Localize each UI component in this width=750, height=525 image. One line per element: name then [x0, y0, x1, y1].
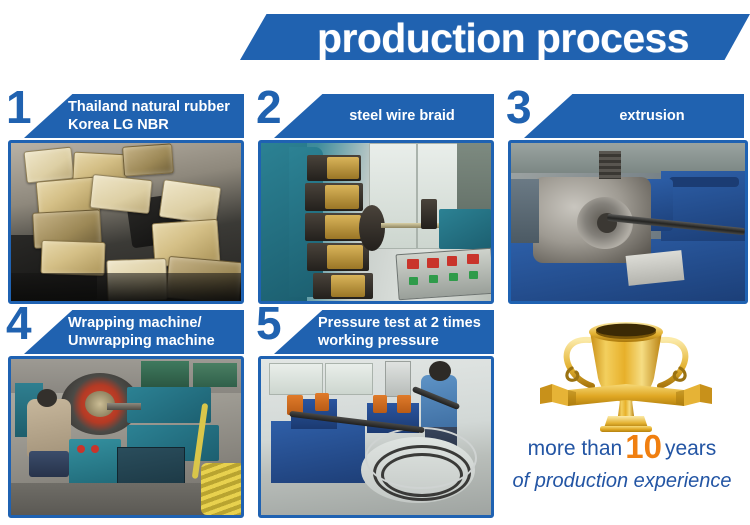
photo-detail	[201, 463, 241, 515]
photo-detail	[37, 389, 57, 407]
photo-detail	[599, 151, 621, 179]
photo-detail	[107, 403, 141, 410]
photo-detail	[325, 215, 361, 239]
photo-detail	[269, 363, 323, 395]
photo-detail	[429, 361, 451, 381]
step-4-label-line-1: Wrapping machine/	[68, 314, 236, 332]
step-2: 2 steel wire braid	[256, 92, 494, 138]
experience-block: more than10years of production experienc…	[496, 432, 748, 496]
step-5-label: Pressure test at 2 times working pressur…	[318, 310, 486, 354]
photo-detail	[469, 271, 478, 279]
experience-years-number: 10	[622, 428, 665, 465]
photo-wrapping-machine	[8, 356, 244, 518]
photo-detail	[331, 275, 365, 297]
step-4-label-line-2: Unwrapping machine	[68, 332, 236, 350]
photo-pressure-test	[258, 356, 494, 518]
step-5-label-line-1: Pressure test at 2 times	[318, 314, 486, 332]
step-2-number: 2	[256, 82, 292, 132]
photo-detail	[447, 256, 457, 266]
experience-line-1: more than10years	[496, 432, 748, 464]
step-4-number: 4	[6, 298, 42, 348]
photo-steel-wire-braid-machine	[258, 140, 494, 304]
photo-rubber-bales-content	[11, 143, 241, 301]
photo-detail	[327, 245, 363, 269]
photo-detail	[193, 363, 237, 387]
experience-suffix: years	[665, 437, 716, 460]
photo-detail	[397, 395, 411, 413]
photo-detail	[40, 240, 105, 276]
step-3-label: extrusion	[568, 94, 736, 138]
photo-detail	[261, 491, 491, 515]
experience-prefix: more than	[528, 437, 623, 460]
photo-detail	[429, 275, 438, 283]
photo-detail	[315, 393, 329, 411]
photo-detail	[11, 273, 241, 301]
photo-detail	[439, 209, 491, 249]
photo-detail	[122, 143, 174, 176]
step-4-header: 4 Wrapping machine/ Unwrapping machine	[6, 308, 244, 354]
photo-detail	[23, 147, 74, 184]
photo-detail	[27, 399, 71, 457]
step-1-number: 1	[6, 82, 42, 132]
page-title: production process	[258, 10, 748, 66]
step-5-label-line-2: working pressure	[318, 332, 486, 350]
step-1: 1 Thailand natural rubber Korea LG NBR	[6, 92, 244, 138]
step-3-number: 3	[506, 82, 542, 132]
photo-detail	[511, 179, 539, 243]
photo-detail	[373, 395, 387, 413]
step-1-label-line-1: Thailand natural rubber	[68, 98, 236, 116]
photo-pressure-test-content	[261, 359, 491, 515]
step-4: 4 Wrapping machine/ Unwrapping machine	[6, 308, 244, 354]
step-1-header: 1 Thailand natural rubber Korea LG NBR	[6, 92, 244, 138]
photo-rubber-bales	[8, 140, 244, 304]
photo-detail	[407, 259, 419, 269]
experience-line-2: of production experience	[496, 466, 748, 496]
photo-detail	[271, 421, 365, 483]
step-3: 3 extrusion	[506, 92, 744, 138]
photo-detail	[511, 143, 745, 173]
photo-detail	[669, 177, 739, 187]
photo-detail	[449, 273, 458, 281]
photo-detail	[626, 250, 685, 286]
photo-detail	[77, 445, 85, 453]
photo-extrusion-content	[511, 143, 745, 301]
photo-detail	[327, 157, 359, 179]
photo-detail	[325, 363, 373, 395]
step-3-label-line-1: extrusion	[619, 107, 684, 125]
photo-detail	[325, 185, 359, 209]
step-5: 5 Pressure test at 2 times working press…	[256, 308, 494, 354]
photo-detail	[421, 199, 437, 229]
step-2-header: 2 steel wire braid	[256, 92, 494, 138]
step-1-label-line-2: Korea LG NBR	[68, 116, 236, 134]
photo-detail	[427, 258, 439, 268]
trophy-icon	[528, 306, 724, 434]
step-1-label: Thailand natural rubber Korea LG NBR	[68, 94, 236, 138]
photo-steel-wire-braid-content	[261, 143, 491, 301]
step-2-label-line-1: steel wire braid	[349, 107, 455, 125]
photo-detail	[385, 361, 411, 397]
step-5-number: 5	[256, 298, 292, 348]
header-banner: production process	[240, 14, 750, 60]
photo-detail	[359, 205, 385, 251]
photo-detail	[159, 179, 222, 225]
photo-wrapping-machine-content	[11, 359, 241, 515]
step-5-header: 5 Pressure test at 2 times working press…	[256, 308, 494, 354]
photo-detail	[467, 254, 479, 264]
photo-detail	[29, 451, 69, 477]
step-3-header: 3 extrusion	[506, 92, 744, 138]
photo-extrusion-machine	[508, 140, 748, 304]
step-2-label: steel wire braid	[318, 94, 486, 138]
step-4-label: Wrapping machine/ Unwrapping machine	[68, 310, 236, 354]
photo-detail	[409, 277, 418, 285]
photo-detail	[89, 174, 152, 214]
photo-detail	[141, 361, 189, 387]
photo-detail	[365, 427, 477, 489]
photo-detail	[91, 445, 99, 453]
